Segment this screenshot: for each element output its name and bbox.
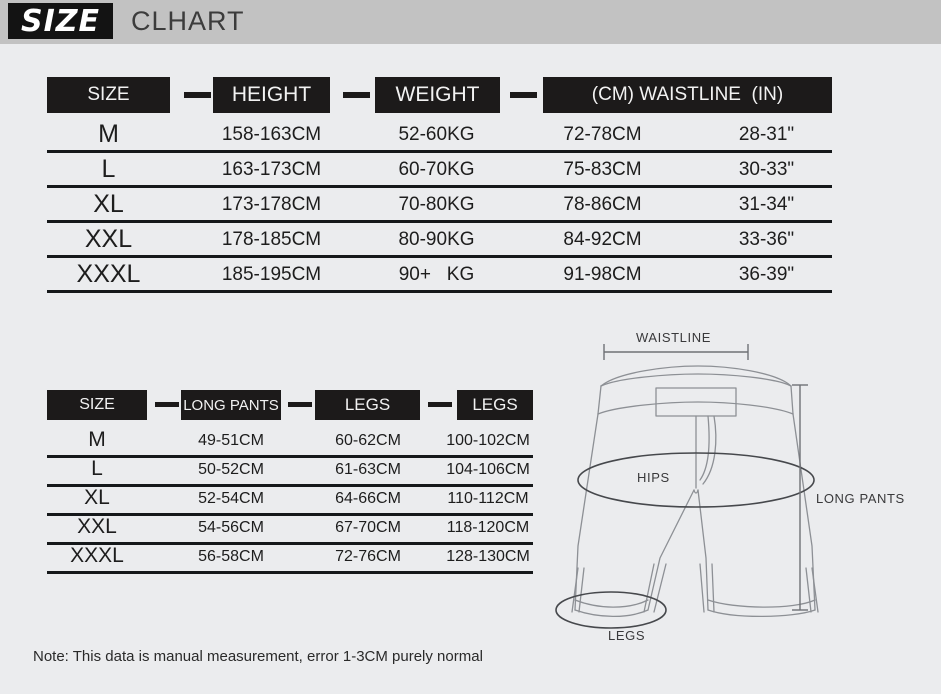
- table1-header-size: SIZE: [47, 77, 170, 113]
- table1-cell-height: 163-173CM: [205, 159, 338, 181]
- table2-cell-size: XXXL: [47, 544, 147, 568]
- table1-cell-size: XXL: [47, 225, 170, 254]
- table1-header-waistline: (CM) WAISTLINE (IN): [543, 77, 832, 113]
- table1-row-divider: [47, 220, 832, 223]
- table1-cell-height: 185-195CM: [205, 264, 338, 286]
- table1-cell-waist-cm: 78-86CM: [540, 194, 665, 216]
- table2-cell-legs2: 118-120CM: [433, 519, 543, 537]
- table1-cell-weight: 60-70KG: [370, 159, 503, 181]
- table2-cell-legs1: 64-66CM: [313, 490, 423, 508]
- table1-cell-waist-cm: 84-92CM: [540, 229, 665, 251]
- table2-cell-legs2: 110-112CM: [433, 490, 543, 508]
- table1-header-height: HEIGHT: [213, 77, 330, 113]
- waistline-label: WAISTLINE: [636, 330, 711, 345]
- table2-cell-size: XL: [47, 486, 147, 510]
- table1-cell-size: XL: [47, 190, 170, 219]
- table2-cell-legs1: 61-63CM: [313, 461, 423, 479]
- table1-cell-weight: 80-90KG: [370, 229, 503, 251]
- table2-cell-long-pants: 50-52CM: [176, 461, 286, 479]
- legs-label: LEGS: [608, 628, 645, 643]
- table2-cell-legs2: 104-106CM: [433, 461, 543, 479]
- table1-cell-size: L: [47, 155, 170, 184]
- table1-cell-height: 178-185CM: [205, 229, 338, 251]
- header-dash: [343, 92, 370, 98]
- table2-cell-legs2: 100-102CM: [433, 432, 543, 450]
- table1-cell-weight: 70-80KG: [370, 194, 503, 216]
- table2-cell-size: M: [47, 428, 147, 452]
- table2-cell-long-pants: 54-56CM: [176, 519, 286, 537]
- table1-cell-waist-cm: 75-83CM: [540, 159, 665, 181]
- table1-cell-waist-in: 30-33": [700, 159, 833, 181]
- table2-cell-long-pants: 52-54CM: [176, 490, 286, 508]
- shorts-svg: [548, 328, 941, 648]
- table1-cell-waist-cm: 72-78CM: [540, 124, 665, 146]
- waistline-dimension-line: [604, 344, 748, 360]
- table2-header-size: SIZE: [47, 390, 147, 420]
- table2-cell-legs1: 72-76CM: [313, 548, 423, 566]
- table2-header-legs2: LEGS: [457, 390, 533, 420]
- header-dash: [288, 402, 312, 407]
- table2-bottom-divider: [47, 571, 533, 574]
- table2-cell-legs1: 60-62CM: [313, 432, 423, 450]
- header-dash: [155, 402, 179, 407]
- table1-row-divider: [47, 255, 832, 258]
- table1-bottom-divider: [47, 290, 832, 293]
- header-dash: [510, 92, 537, 98]
- table2-cell-size: L: [47, 457, 147, 481]
- table2-cell-long-pants: 56-58CM: [176, 548, 286, 566]
- table2-header-legs1: LEGS: [315, 390, 420, 420]
- table1-cell-waist-in: 31-34": [700, 194, 833, 216]
- size-badge: SIZE: [8, 3, 113, 39]
- table1-cell-height: 173-178CM: [205, 194, 338, 216]
- table1-row-divider: [47, 185, 832, 188]
- header-dash: [184, 92, 211, 98]
- header-dash: [428, 402, 452, 407]
- table1-cell-weight: 52-60KG: [370, 124, 503, 146]
- table2-cell-long-pants: 49-51CM: [176, 432, 286, 450]
- table1-cell-waist-in: 36-39": [700, 264, 833, 286]
- table2-cell-legs1: 67-70CM: [313, 519, 423, 537]
- hips-label: HIPS: [634, 470, 673, 485]
- long-pants-label: LONG PANTS: [816, 491, 905, 506]
- table1-cell-weight: 90+ KG: [370, 264, 503, 286]
- table1-cell-size: XXXL: [47, 260, 170, 289]
- table1-cell-waist-in: 28-31": [700, 124, 833, 146]
- table1-cell-size: M: [47, 120, 170, 149]
- table2-header-long-pants: LONG PANTS: [181, 390, 281, 420]
- shorts-measurement-diagram: WAISTLINE HIPS LEGS LONG PANTS: [548, 328, 941, 648]
- table1-header-weight: WEIGHT: [375, 77, 500, 113]
- table1-cell-waist-cm: 91-98CM: [540, 264, 665, 286]
- table2-cell-legs2: 128-130CM: [433, 548, 543, 566]
- page-title: CLHART: [131, 6, 245, 37]
- table2-cell-size: XXL: [47, 515, 147, 539]
- top-header-bar: SIZE CLHART: [0, 0, 941, 44]
- footer-note: Note: This data is manual measurement, e…: [33, 648, 483, 665]
- table1-row-divider: [47, 150, 832, 153]
- table1-cell-height: 158-163CM: [205, 124, 338, 146]
- table1-cell-waist-in: 33-36": [700, 229, 833, 251]
